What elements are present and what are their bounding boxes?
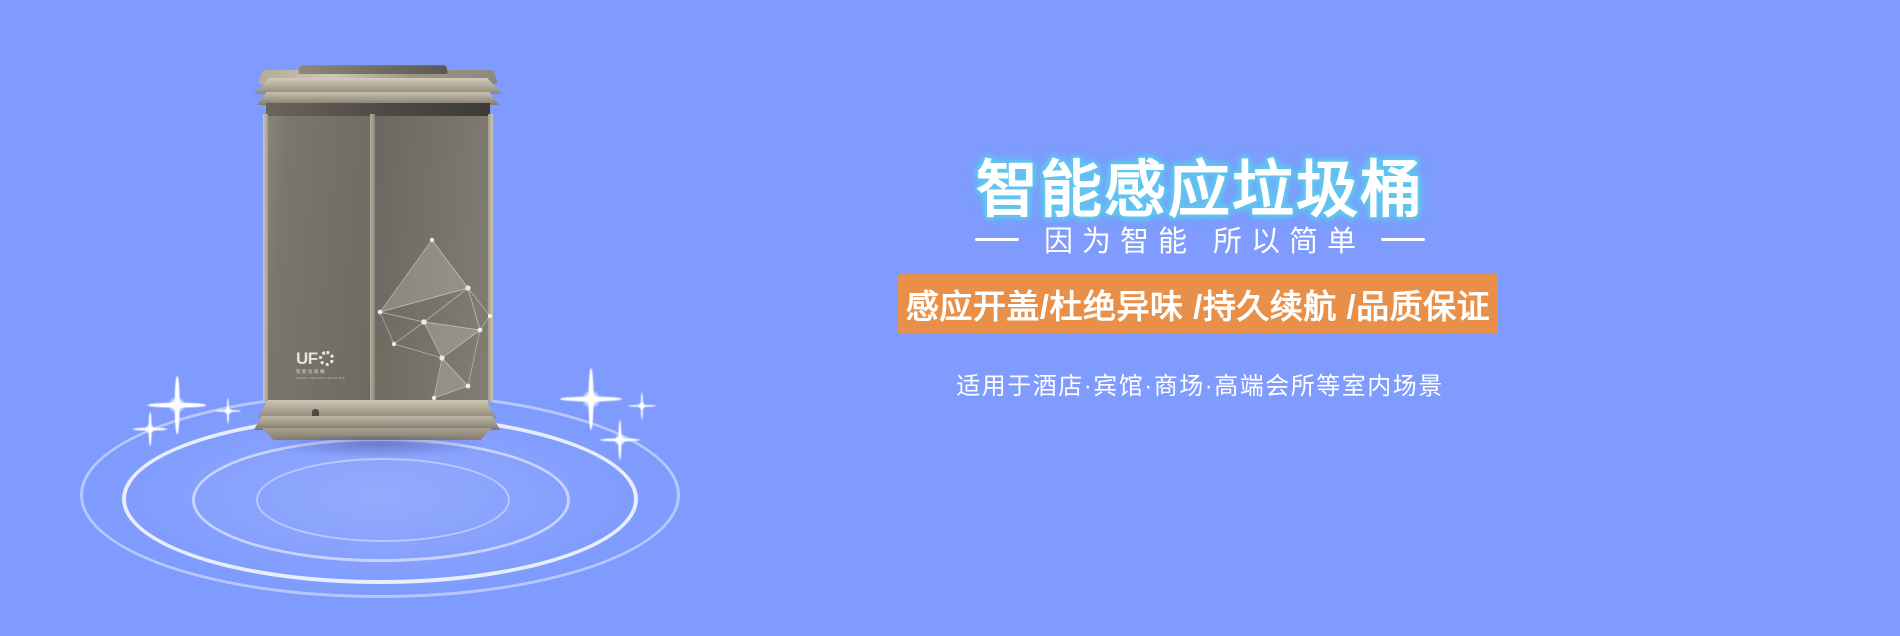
brand-logo-wordmark: UF (296, 350, 318, 367)
page-title: 智能感应垃圾桶 (880, 160, 1520, 222)
dash-rule-left-icon (975, 238, 1019, 241)
usage-scenario-text: 适用于酒店·宾馆·商场·高端会所等室内场景 (880, 366, 1520, 401)
promo-banner: UF 智能垃圾桶 SMART SENSOR TRASH BIN 智能感应垃圾桶 … (0, 0, 1900, 636)
polygon-network-icon (372, 226, 492, 406)
bin-lid-opening (298, 65, 448, 74)
brand-logo-english-subtitle: SMART SENSOR TRASH BIN (296, 377, 354, 380)
product-image-trash-bin: UF 智能垃圾桶 SMART SENSOR TRASH BIN (252, 58, 502, 428)
tagline: 因为智能 所以简单 (880, 218, 1520, 260)
brand-logo-chinese-subtitle: 智能垃圾桶 (296, 370, 354, 375)
bin-ground-shadow (266, 436, 488, 458)
product-scene: UF 智能垃圾桶 SMART SENSOR TRASH BIN (0, 0, 800, 636)
brand-logo-wordmark-row: UF (296, 350, 354, 367)
ring-o-icon (319, 351, 334, 366)
bin-base-top (258, 400, 496, 418)
dash-rule-right-icon (1381, 238, 1425, 241)
feature-highlight-bar: 感应开盖/杜绝异味 /持久续航 /品质保证 (898, 274, 1498, 334)
bin-rim-upper (254, 78, 502, 94)
feature-highlight-text: 感应开盖/杜绝异味 /持久续航 /品质保证 (906, 280, 1490, 328)
ripple-ring-4 (256, 458, 510, 542)
bin-base-middle (254, 416, 500, 430)
brand-logo: UF 智能垃圾桶 SMART SENSOR TRASH BIN (296, 350, 354, 380)
bin-edge-left (263, 114, 268, 402)
tagline-text: 因为智能 所以简单 (1035, 218, 1365, 260)
copy-block: 智能感应垃圾桶 因为智能 所以简单 感应开盖/杜绝异味 /持久续航 /品质保证 … (880, 0, 1900, 636)
